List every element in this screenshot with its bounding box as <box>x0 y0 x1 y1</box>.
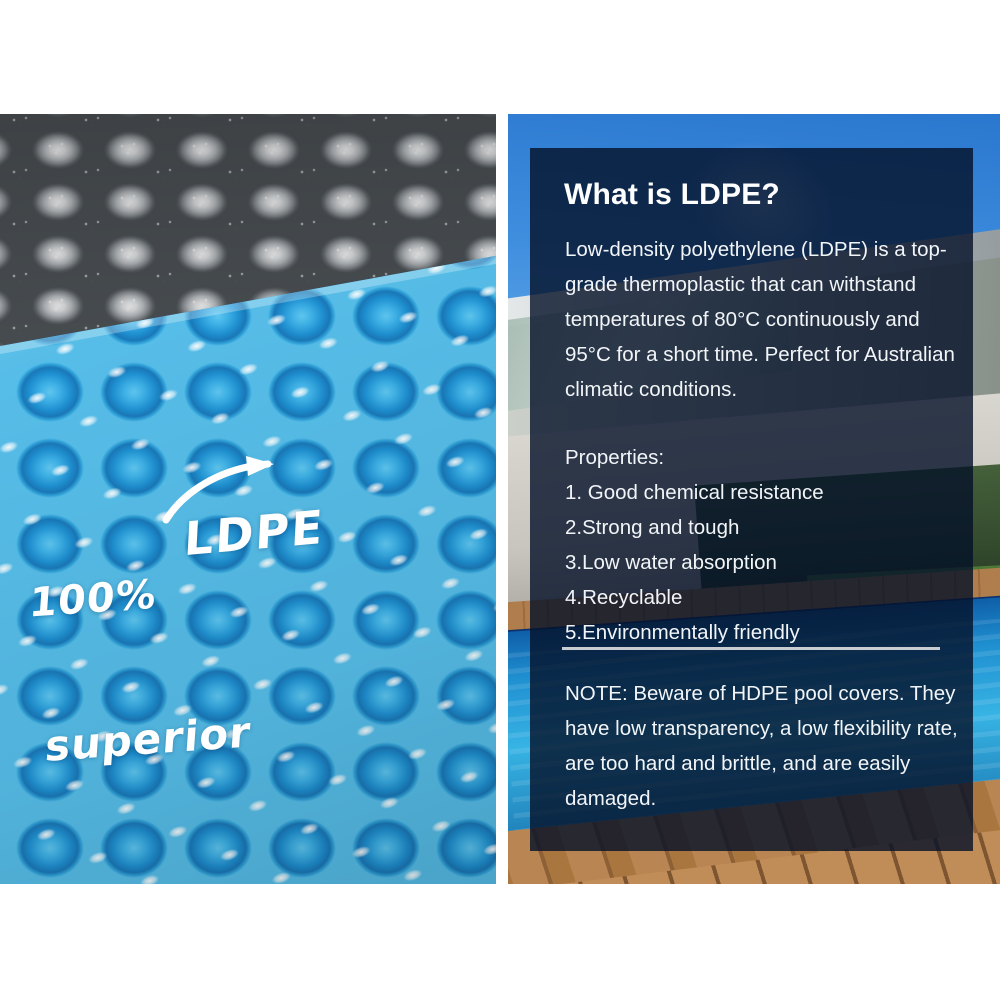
note-text: NOTE: Beware of HDPE pool covers. They h… <box>565 676 965 816</box>
info-text-card: What is LDPE? Low-density polyethylene (… <box>530 148 973 851</box>
list-item: 1. Good chemical resistance <box>565 475 965 510</box>
properties-list: 1. Good chemical resistance 2.Strong and… <box>565 475 965 650</box>
list-item: 3.Low water absorption <box>565 545 965 580</box>
handwritten-superior: superior <box>44 708 253 771</box>
card-title: What is LDPE? <box>564 178 780 212</box>
list-item: 2.Strong and tough <box>565 510 965 545</box>
curved-arrow-icon <box>160 454 310 524</box>
list-item: 5.Environmentally friendly <box>565 615 965 650</box>
list-item: 4.Recyclable <box>565 580 965 615</box>
card-body-text: Low-density polyethylene (LDPE) is a top… <box>565 232 965 407</box>
properties-label: Properties: <box>565 440 664 475</box>
section-divider <box>562 647 940 650</box>
left-product-photo: 100% superior LDPE <box>0 114 496 884</box>
infographic-stage: 100% superior LDPE <box>0 0 1000 1000</box>
handwritten-percent: 100% <box>28 565 243 628</box>
right-info-panel: What is LDPE? Low-density polyethylene (… <box>508 114 1000 884</box>
